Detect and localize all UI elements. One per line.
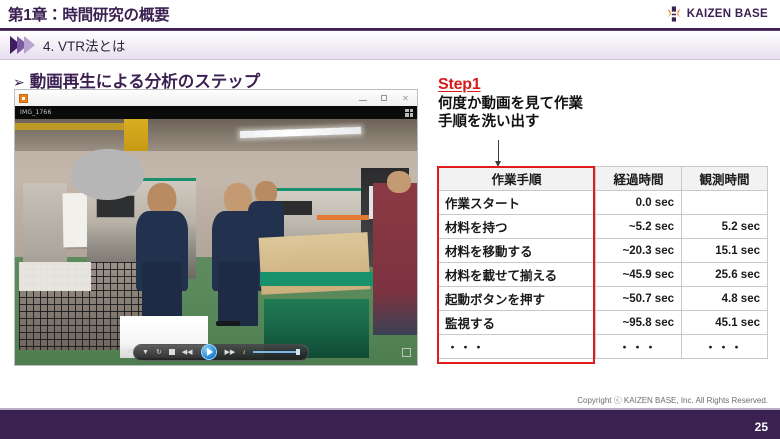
table-row: 作業スタート 0.0 sec xyxy=(438,191,768,215)
video-filename: IMG_1766 xyxy=(20,109,51,116)
page-number: 25 xyxy=(755,420,768,434)
cell-observed: 15.1 sec xyxy=(682,239,768,263)
cell-observed: 5.2 sec xyxy=(682,215,768,239)
kaizen-logo-icon xyxy=(665,5,683,23)
table-row: 材料を持つ ~5.2 sec 5.2 sec xyxy=(438,215,768,239)
privacy-mask-oval xyxy=(71,149,143,201)
column-header-elapsed: 経過時間 xyxy=(596,167,682,191)
table-row: 監視する ~95.8 sec 45.1 sec xyxy=(438,311,768,335)
play-icon[interactable] xyxy=(201,344,217,360)
table-row: 起動ボタンを押す ~50.7 sec 4.8 sec xyxy=(438,287,768,311)
window-controls: ✕ xyxy=(359,94,414,103)
cell-observed xyxy=(682,191,768,215)
video-surface[interactable]: IMG_1766 xyxy=(15,106,417,365)
column-header-observed: 観測時間 xyxy=(682,167,768,191)
person-maroon-shirt xyxy=(373,183,417,336)
window-titlebar[interactable]: ✕ xyxy=(15,90,417,106)
step-description-line1: 何度か動画を見て作業 xyxy=(438,96,768,114)
subtitle-label: 4. VTR法とは xyxy=(43,35,126,55)
cell-observed: 4.8 sec xyxy=(682,287,768,311)
cell-elapsed: ~95.8 sec xyxy=(596,311,682,335)
media-player-app-icon xyxy=(19,94,28,103)
loop-icon[interactable]: ↻ xyxy=(156,349,162,356)
fullscreen-icon[interactable] xyxy=(402,348,411,357)
cell-elapsed: ~20.3 sec xyxy=(596,239,682,263)
volume-slider[interactable] xyxy=(253,351,300,353)
stop-icon[interactable] xyxy=(169,349,175,355)
cell-elapsed: ~50.7 sec xyxy=(596,287,682,311)
copyright-text: Copyright ⓒ KAIZEN BASE, Inc. All Rights… xyxy=(577,395,768,406)
grid-view-icon[interactable] xyxy=(405,109,413,117)
video-control-bar[interactable]: 00:41 ▼ ↻ ◀◀ ▶▶ ♪ xyxy=(15,339,417,365)
cell-elapsed: ・・・ xyxy=(596,335,682,359)
cell-elapsed: ~5.2 sec xyxy=(596,215,682,239)
triple-chevron-right-icon xyxy=(10,36,31,54)
brand-logo: KAIZEN BASE xyxy=(665,5,774,23)
work-steps-table-wrapper: 作業手順 経過時間 観測時間 作業スタート 0.0 sec 材料を持つ ~5.2… xyxy=(437,166,767,359)
close-button[interactable]: ✕ xyxy=(401,94,410,103)
cell-step: 作業スタート xyxy=(438,191,596,215)
slide-header: 第1章：時間研究の概要 KAIZEN BASE xyxy=(0,0,780,28)
cell-observed: ・・・ xyxy=(682,335,768,359)
column-header-step: 作業手順 xyxy=(438,167,596,191)
step-label: Step1 xyxy=(438,76,481,94)
table-header-row: 作業手順 経過時間 観測時間 xyxy=(438,167,768,191)
step-callout: Step1 何度か動画を見て作業 手順を洗い出す xyxy=(438,76,768,131)
cell-step: 材料を移動する xyxy=(438,239,596,263)
rewind-icon[interactable]: ◀◀ xyxy=(182,349,193,356)
cell-elapsed: 0.0 sec xyxy=(596,191,682,215)
video-file-bar: IMG_1766 xyxy=(15,106,417,119)
footer-bar xyxy=(0,408,780,439)
cell-elapsed: ~45.9 sec xyxy=(596,263,682,287)
table-row: 材料を移動する ~20.3 sec 15.1 sec xyxy=(438,239,768,263)
volume-icon[interactable]: ♪ xyxy=(242,349,246,356)
minimize-button[interactable] xyxy=(359,94,368,103)
brand-name: KAIZEN BASE xyxy=(687,8,768,20)
work-steps-table: 作業手順 経過時間 観測時間 作業スタート 0.0 sec 材料を持つ ~5.2… xyxy=(437,166,768,359)
cell-step: 起動ボタンを押す xyxy=(438,287,596,311)
step-description: 何度か動画を見て作業 手順を洗い出す xyxy=(438,96,768,131)
video-player-window[interactable]: ✕ IMG_1766 xyxy=(14,89,418,366)
video-scene xyxy=(15,119,417,365)
cell-observed: 25.6 sec xyxy=(682,263,768,287)
cell-step: 材料を載せて揃える xyxy=(438,263,596,287)
arrow-down-icon xyxy=(498,140,499,162)
table-row: 材料を載せて揃える ~45.9 sec 25.6 sec xyxy=(438,263,768,287)
worker-figure xyxy=(248,181,284,245)
cell-step: 監視する xyxy=(438,311,596,335)
section-subtitle-bar: 4. VTR法とは xyxy=(0,31,780,60)
step-description-line2: 手順を洗い出す xyxy=(438,114,768,132)
table-row: ・・・ ・・・ ・・・ xyxy=(438,335,768,359)
cell-step: ・・・ xyxy=(438,335,596,359)
subtitle-icon[interactable]: ▼ xyxy=(142,349,149,356)
fast-forward-icon[interactable]: ▶▶ xyxy=(225,349,236,356)
cell-observed: 45.1 sec xyxy=(682,311,768,335)
cell-step: 材料を持つ xyxy=(438,215,596,239)
page-title: 第1章：時間研究の概要 xyxy=(8,3,169,25)
maximize-button[interactable] xyxy=(380,94,389,103)
